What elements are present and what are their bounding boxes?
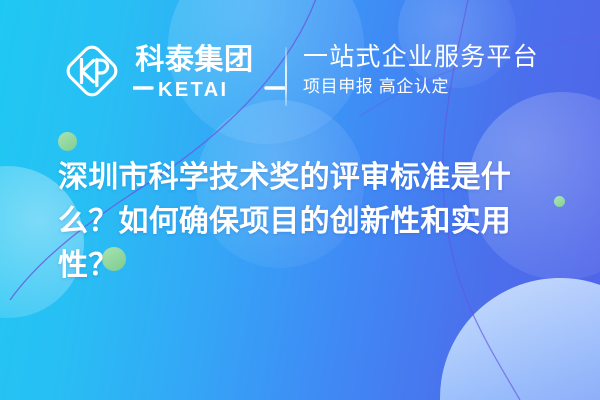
slogan-secondary: 项目申报 高企认定	[303, 76, 539, 98]
svg-text:科泰集团: 科泰集团	[135, 43, 253, 76]
slogan-primary: 一站式企业服务平台	[303, 42, 539, 72]
brand-logo[interactable]: 科泰集团 KETAI	[62, 41, 285, 101]
kp-diamond-logo-icon	[62, 41, 122, 101]
header-slogan: 一站式企业服务平台 项目申报 高企认定	[303, 42, 539, 98]
svg-text:KETAI: KETAI	[158, 79, 229, 99]
banner-header: 科泰集团 KETAI 一站式企业服务平台 项目申报 高企认定	[0, 0, 600, 140]
brand-name-cn: 科泰集团	[133, 43, 285, 76]
page-title: 深圳市科学技术奖的评审标准是什么？如何确保项目的创新性和实用性？	[58, 156, 566, 288]
brand-logo-text: 科泰集团 KETAI	[133, 43, 285, 99]
header-divider	[285, 47, 287, 106]
brand-name-en: KETAI	[133, 77, 285, 99]
promo-banner: 科泰集团 KETAI 一站式企业服务平台 项目申报 高企认定 深圳市科学技术奖的…	[0, 0, 600, 400]
